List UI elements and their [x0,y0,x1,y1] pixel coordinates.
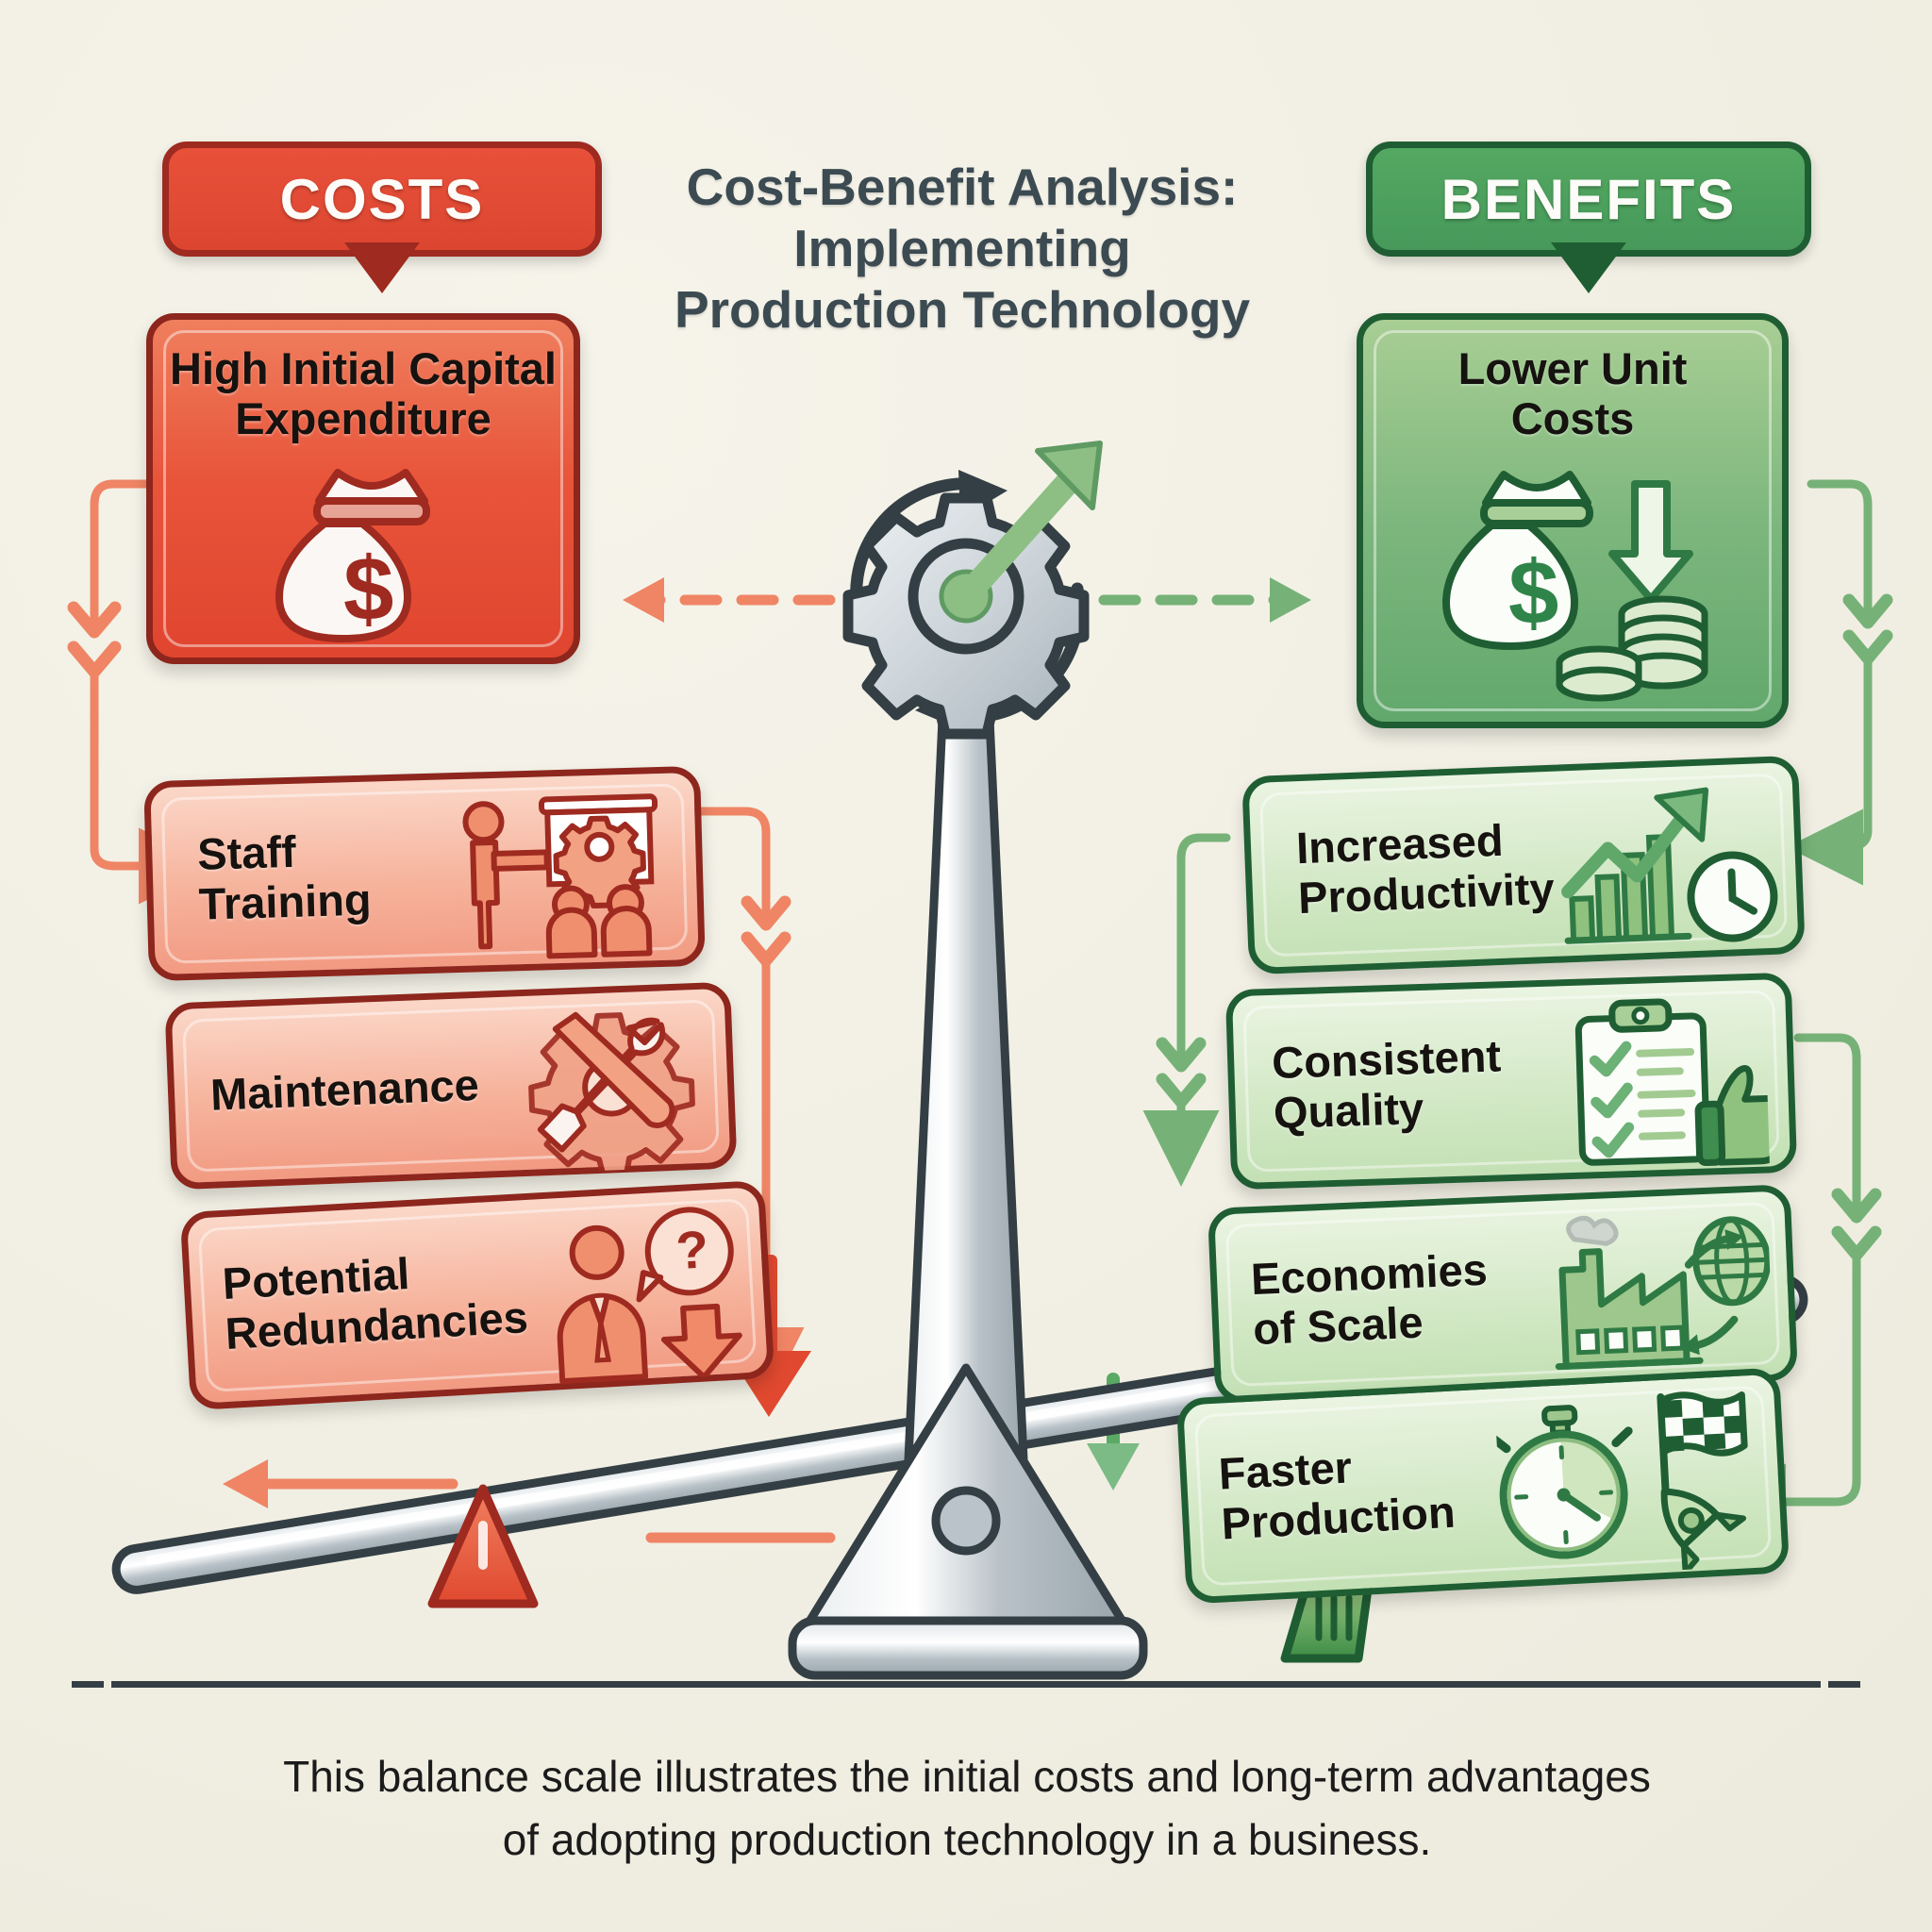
checkered-flag-icon [1660,1392,1746,1495]
stopwatch-icon [1494,1405,1635,1558]
benefit-dashed-arrow-head [1270,577,1311,623]
cost-card-high-initial-capital-expenditure[interactable]: High Initial Capital Expenditure $ [146,313,580,664]
benefit-down-arrow-head [1087,1443,1140,1491]
cost-card-label: High Initial Capital Expenditure [153,344,574,443]
benefits-badge-label: BENEFITS [1441,167,1737,232]
rocket-icon [1635,1464,1743,1572]
costs-badge-label: COSTS [280,167,485,232]
cycle-arrow-icon [857,484,1079,717]
infographic-canvas: COSTS BENEFITS Cost-Benefit Analysis: Im… [0,0,1932,1932]
growth-chart-clock-icon [1555,779,1788,954]
wrench-screwdriver-gear-icon [519,1001,705,1174]
training-presentation-icon [451,791,673,962]
stopwatch-flag-rocket-icon [1494,1387,1755,1579]
cost-card-maintenance[interactable]: Maintenance [164,982,737,1191]
benefit-card-lower-unit-costs[interactable]: Lower Unit Costs $ [1357,313,1789,728]
benefits-badge: BENEFITS [1366,142,1811,257]
smoke-icon [1568,1217,1616,1245]
cost-card-staff-training[interactable]: Staff Training [143,766,706,981]
caption-text: This balance scale illustrates the initi… [283,1745,1651,1871]
benefit-up-down-arrow [1094,1379,1132,1443]
factory-globe-icon [1544,1205,1774,1380]
cost-card-label: Staff Training [197,825,373,929]
costs-badge: COSTS [162,142,602,257]
growth-arrow-icon [966,443,1100,596]
title-line-2: Implementing [623,218,1302,279]
benefit-card-label: Economies of Scale [1250,1245,1491,1355]
clipboard-checklist-thumbs-up-icon [1560,993,1770,1172]
benefit-card-consistent-quality[interactable]: Consistent Quality [1225,973,1797,1191]
money-bag-icon: $ [258,461,485,650]
svg-text:$: $ [343,539,393,640]
cost-dashed-arrow-head [623,577,664,623]
money-bag-coins-down-arrow-icon: $ [1437,465,1720,705]
cost-card-label: Maintenance [209,1060,479,1121]
benefit-card-label: Increased Productivity [1295,814,1555,924]
cost-card-label: Potential Redundancies [221,1243,529,1359]
gear-icon [848,498,1084,734]
benefit-card-label: Faster Production [1218,1438,1457,1549]
worker-question-down-arrow-icon: ? [545,1203,753,1385]
benefit-card-label: Consistent Quality [1271,1032,1503,1139]
benefit-card-faster-production[interactable]: Faster Production [1176,1367,1790,1604]
costs-badge-tail [350,242,414,286]
svg-text:?: ? [675,1219,710,1280]
title-line-1: Cost-Benefit Analysis: [623,157,1302,218]
svg-text:$: $ [1508,542,1558,643]
red-triangle-marker [432,1489,534,1604]
title-line-3: Production Technology [623,279,1302,341]
scale-tilt-indicator [243,1484,830,1538]
benefit-card-label: Lower Unit Costs [1363,344,1782,443]
benefit-card-increased-productivity[interactable]: Increased Productivity [1241,756,1806,974]
page-title: Cost-Benefit Analysis: Implementing Prod… [623,157,1302,341]
globe-icon [1694,1218,1770,1304]
benefits-badge-tail [1557,242,1621,286]
cost-card-potential-redundancies[interactable]: Potential Redundancies ? [180,1180,775,1410]
caption-divider [111,1681,1821,1688]
scale-tilt-arrow-head [223,1459,268,1508]
